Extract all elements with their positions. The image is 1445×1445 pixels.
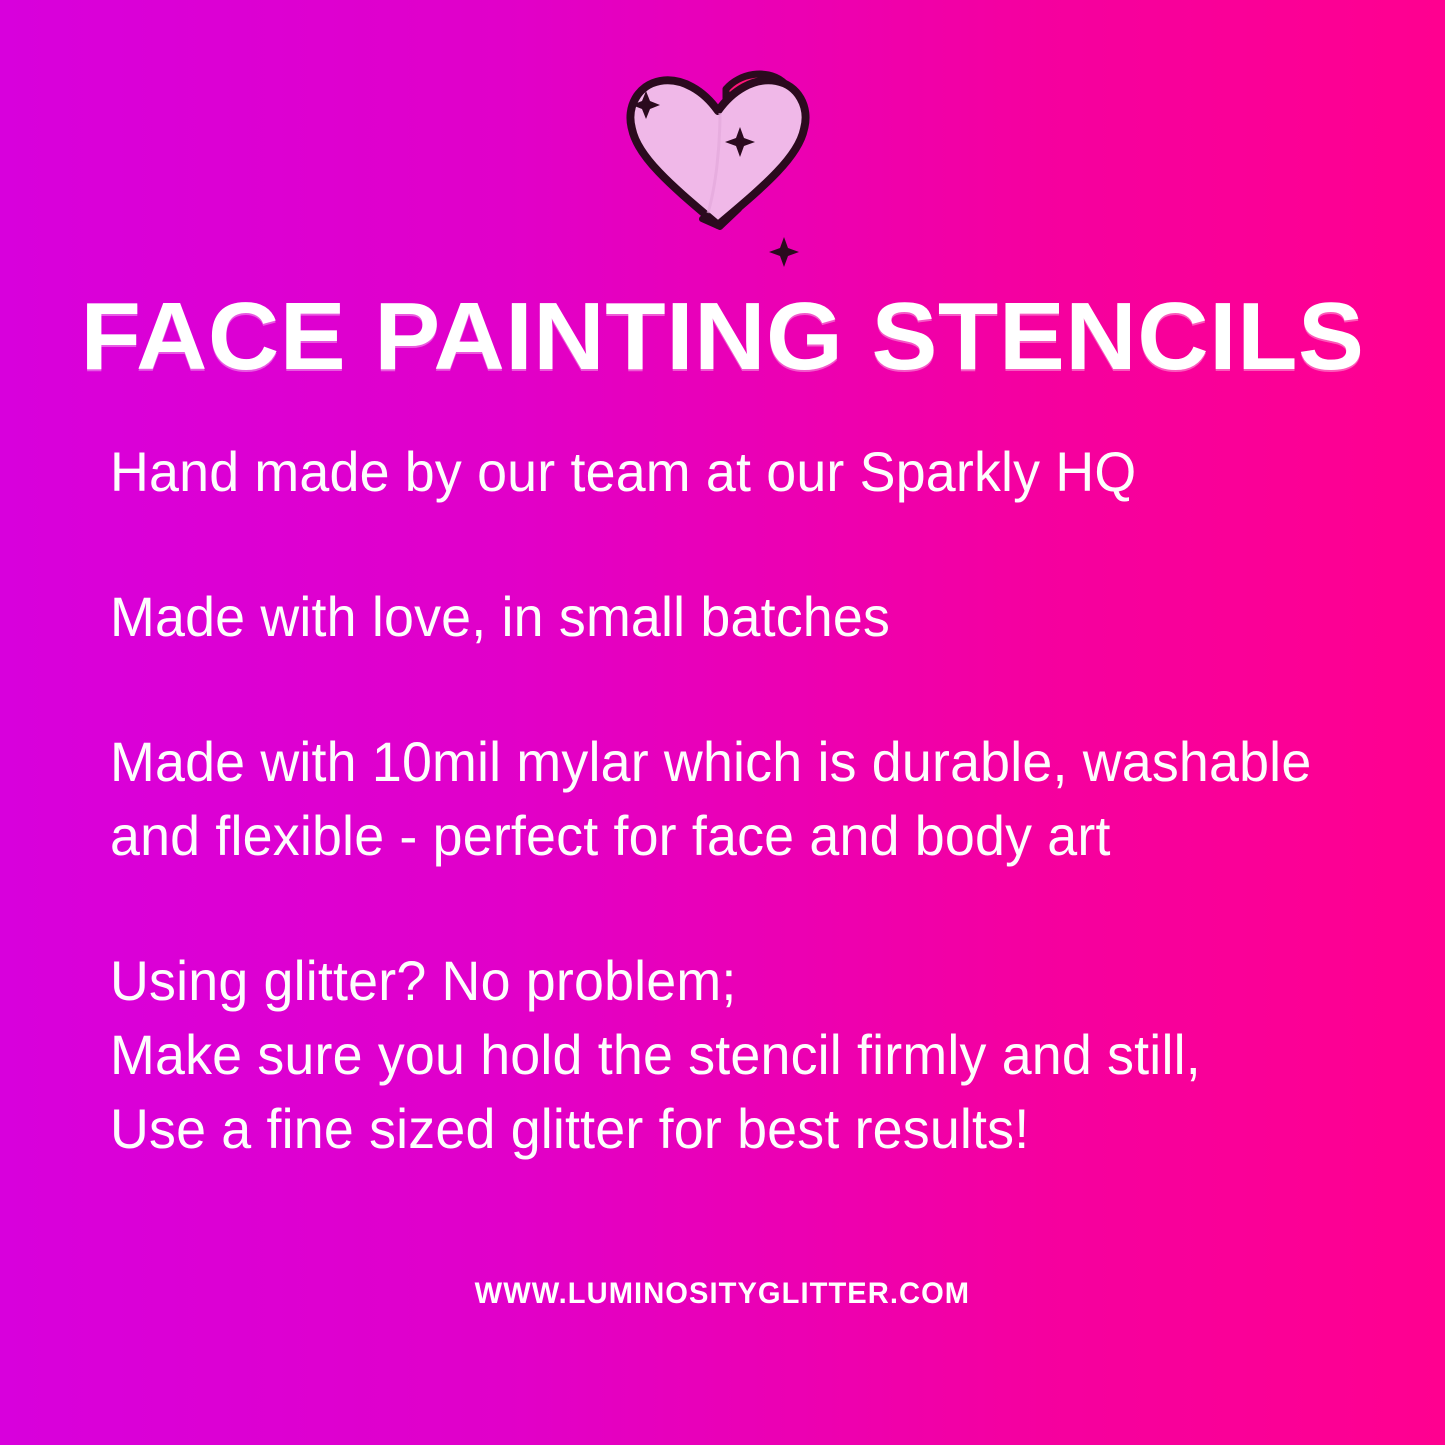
striped-heart-logo xyxy=(608,67,838,267)
paragraph-handmade: Hand made by our team at our Sparkly HQ xyxy=(110,435,1310,509)
copy-line: Hand made by our team at our Sparkly HQ xyxy=(110,435,1262,509)
poster-canvas: FACE PAINTING STENCILS Hand made by our … xyxy=(0,0,1445,1445)
paragraph-glitter: Using glitter? No problem; Make sure you… xyxy=(110,944,1310,1166)
page-title: FACE PAINTING STENCILS xyxy=(0,286,1445,388)
copy-line: Using glitter? No problem; xyxy=(110,944,1262,1018)
copy-line: Made with love, in small batches xyxy=(110,580,1262,654)
paragraph-mylar: Made with 10mil mylar which is durable, … xyxy=(110,725,1310,873)
copy-line: Made with 10mil mylar which is durable, … xyxy=(110,725,1262,799)
sparkle-icon xyxy=(769,237,799,267)
copy-line: Use a fine sized glitter for best result… xyxy=(110,1092,1262,1166)
logo-container xyxy=(0,62,1445,272)
copy-line: Make sure you hold the stencil firmly an… xyxy=(110,1018,1262,1092)
copy-line: and flexible - perfect for face and body… xyxy=(110,799,1262,873)
footer: WWW.LUMINOSITYGLITTER.COM xyxy=(0,1277,1445,1311)
body-copy: Hand made by our team at our Sparkly HQ … xyxy=(110,435,1310,1166)
paragraph-small-batches: Made with love, in small batches xyxy=(110,580,1310,654)
website-url[interactable]: WWW.LUMINOSITYGLITTER.COM xyxy=(475,1277,970,1311)
